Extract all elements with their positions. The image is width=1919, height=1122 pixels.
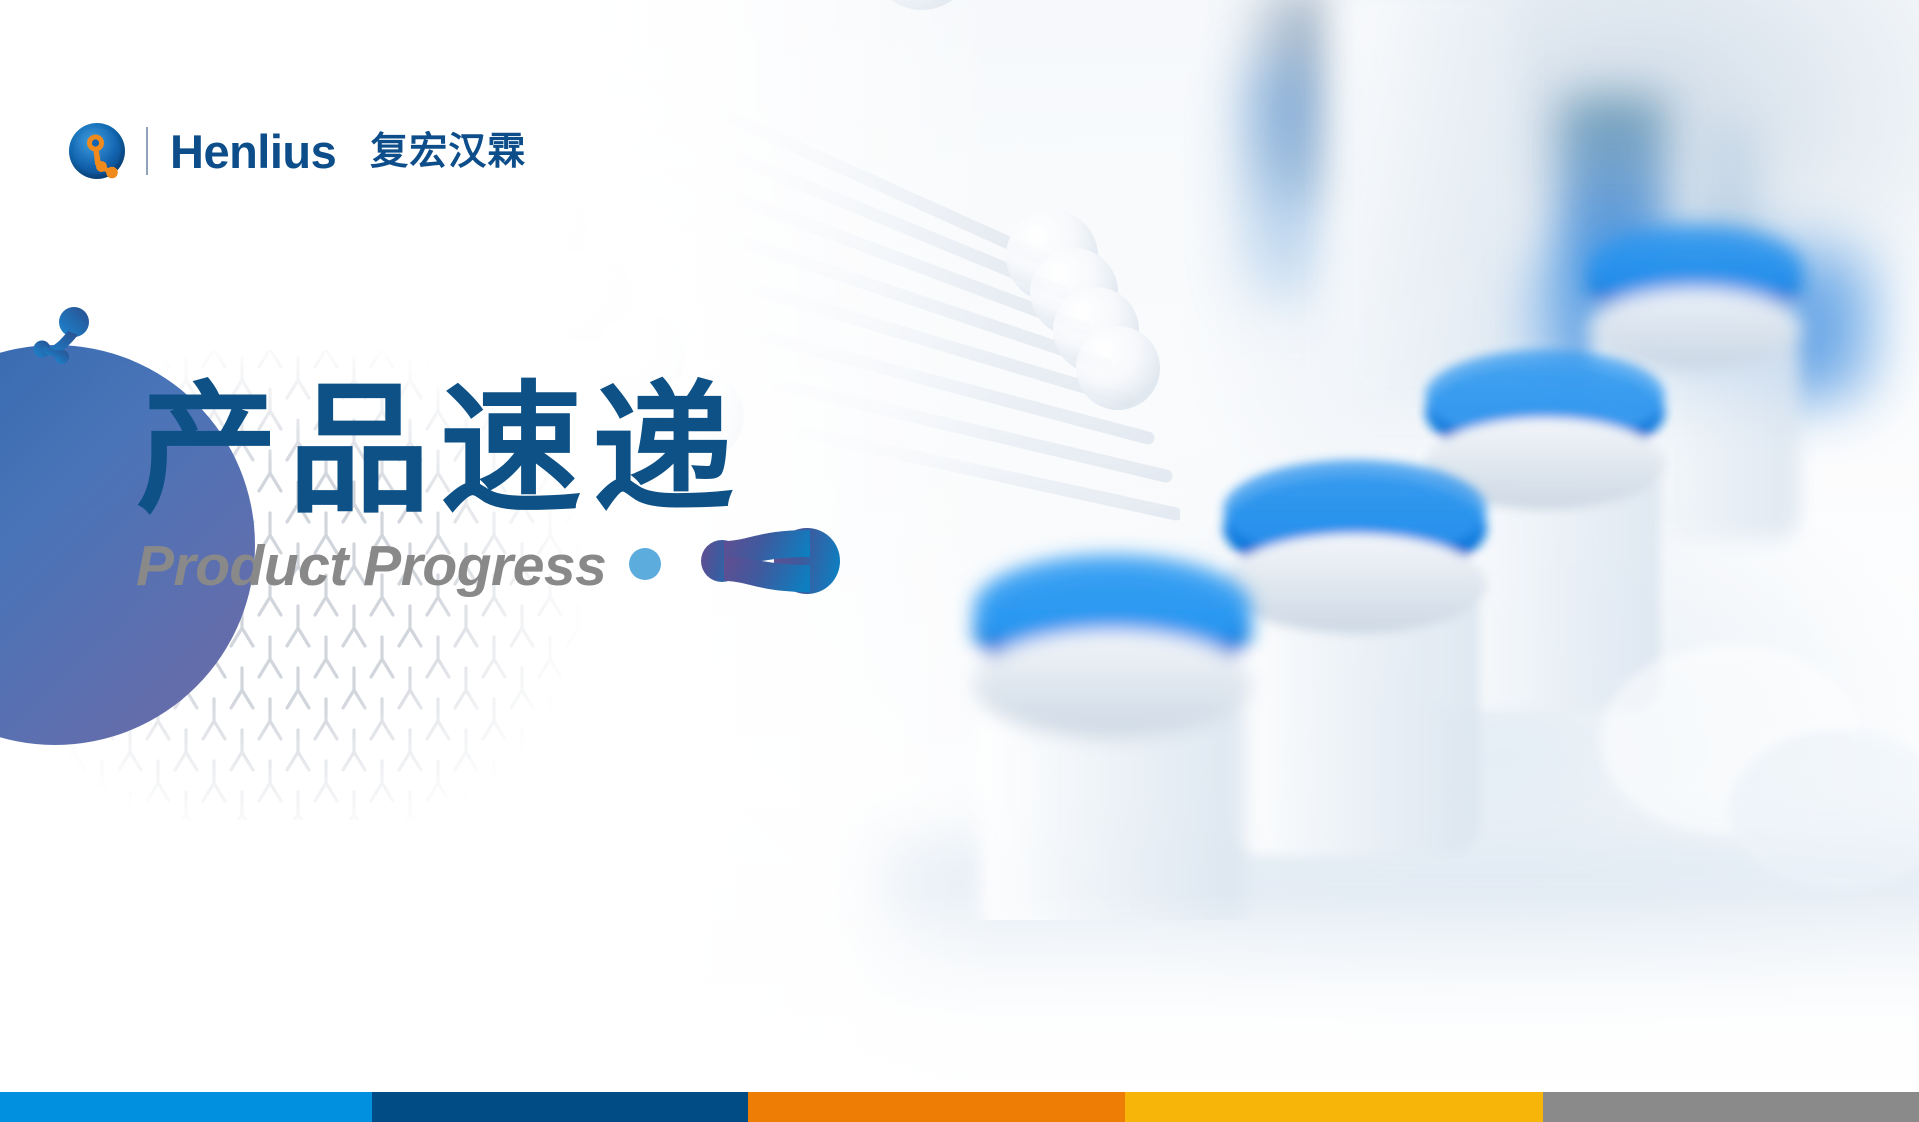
accent-dot bbox=[629, 548, 661, 580]
mini-molecule-icon bbox=[20, 305, 100, 375]
brand-name-en: Henlius bbox=[170, 128, 336, 175]
brand-logo[interactable]: Henlius 复宏汉霖 bbox=[68, 120, 526, 182]
logo-divider bbox=[146, 127, 148, 175]
brand-name-cn: 复宏汉霖 bbox=[370, 132, 526, 170]
bottom-color-bar bbox=[0, 1092, 1919, 1122]
photo-bottom-fade bbox=[0, 892, 1919, 1122]
page-title-cn: 产品速递 bbox=[136, 374, 896, 527]
color-bar-segment-0 bbox=[0, 1092, 372, 1122]
color-bar-segment-3 bbox=[1125, 1092, 1543, 1122]
molecule-accent-icon bbox=[694, 521, 844, 601]
color-bar-segment-2 bbox=[748, 1092, 1124, 1122]
color-bar-segment-4 bbox=[1543, 1092, 1919, 1122]
title-slide: Henlius 复宏汉霖 产品速递 Product Progress bbox=[0, 0, 1919, 1122]
henlius-logo-mark-icon bbox=[68, 122, 126, 180]
color-bar-segment-1 bbox=[372, 1092, 748, 1122]
